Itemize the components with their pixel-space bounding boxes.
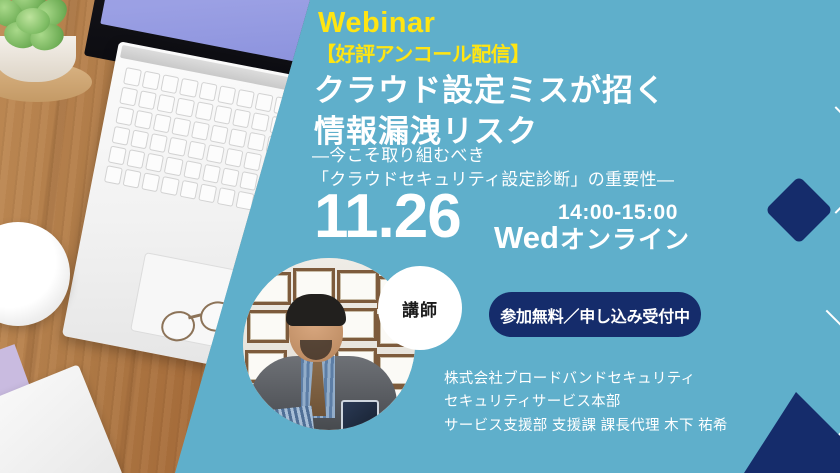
speaker-division: セキュリティサービス本部 xyxy=(444,394,621,410)
speaker-held-device xyxy=(341,400,379,430)
event-weekday: Wed xyxy=(494,222,559,253)
speaker-badge: 講師 xyxy=(378,266,462,350)
event-date: 11.26 xyxy=(314,186,461,248)
banner-content: Webinar 【好評アンコール配信】 クラウド設定ミスが招く 情報漏洩リスク … xyxy=(0,0,840,473)
register-cta-label: 参加無料／申し込み受付中 xyxy=(500,303,690,327)
event-time: 14:00-15:00 xyxy=(558,202,678,223)
speaker-cuff xyxy=(266,406,314,430)
speaker-title-name: サービス支援部 支援課 課長代理 木下 祐希 xyxy=(444,418,728,434)
event-format: オンライン xyxy=(560,228,690,253)
webinar-banner: Webinar 【好評アンコール配信】 クラウド設定ミスが招く 情報漏洩リスク … xyxy=(0,0,840,473)
encore-label: 【好評アンコール配信】 xyxy=(316,44,530,66)
banner-title: クラウド設定ミスが招く 情報漏洩リスク xyxy=(314,70,666,152)
speaker-badge-label: 講師 xyxy=(402,296,438,321)
register-cta-button[interactable]: 参加無料／申し込み受付中 xyxy=(489,292,701,337)
webinar-kicker: Webinar xyxy=(318,8,435,40)
speaker-company: 株式会社ブロードバンドセキュリティ xyxy=(444,371,695,387)
speaker-credit: 株式会社ブロードバンドセキュリティ セキュリティサービス本部 サービス支援部 支… xyxy=(444,368,728,438)
